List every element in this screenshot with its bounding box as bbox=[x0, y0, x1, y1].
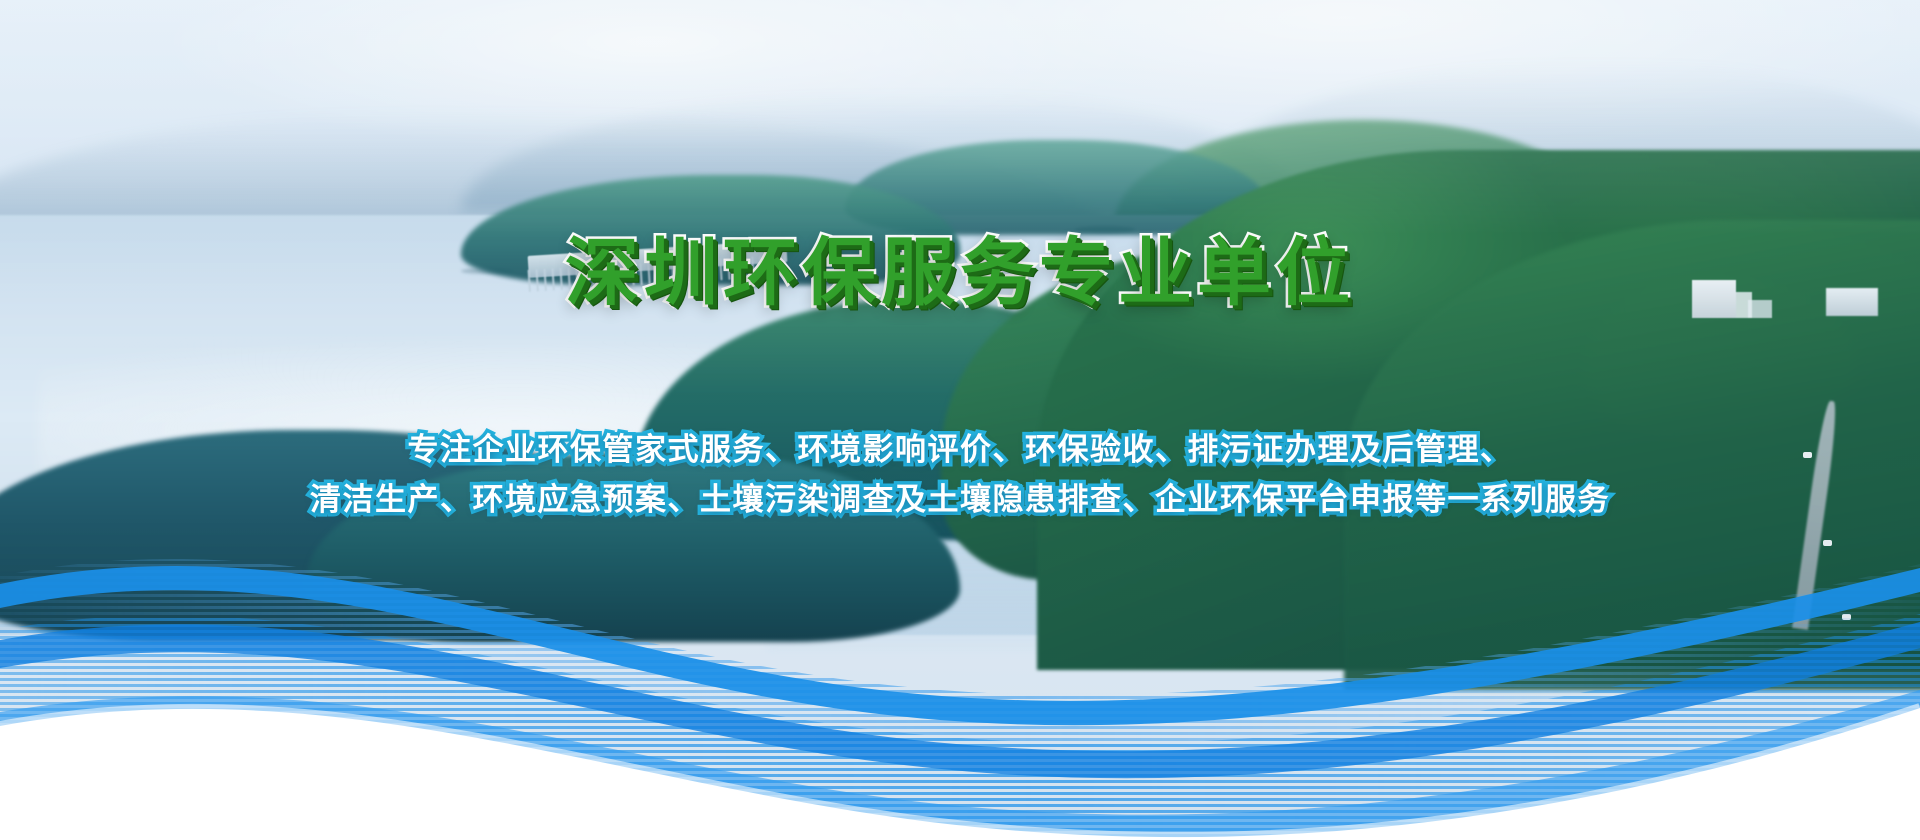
background-photo bbox=[0, 0, 1920, 840]
page-title: 深圳环保服务专业单位 bbox=[0, 236, 1920, 310]
subtitle-line-1: 专注企业环保管家式服务、环境影响评价、环保验收、排污证办理及后管理、 bbox=[0, 434, 1920, 465]
car-3 bbox=[1842, 614, 1851, 620]
car-2 bbox=[1823, 540, 1832, 546]
subtitle-line-2: 清洁生产、环境应急预案、土壤污染调查及土壤隐患排查、企业环保平台申报等一系列服务 bbox=[0, 484, 1920, 515]
hero-banner: 深圳环保服务专业单位 专注企业环保管家式服务、环境影响评价、环保验收、排污证办理… bbox=[0, 0, 1920, 840]
